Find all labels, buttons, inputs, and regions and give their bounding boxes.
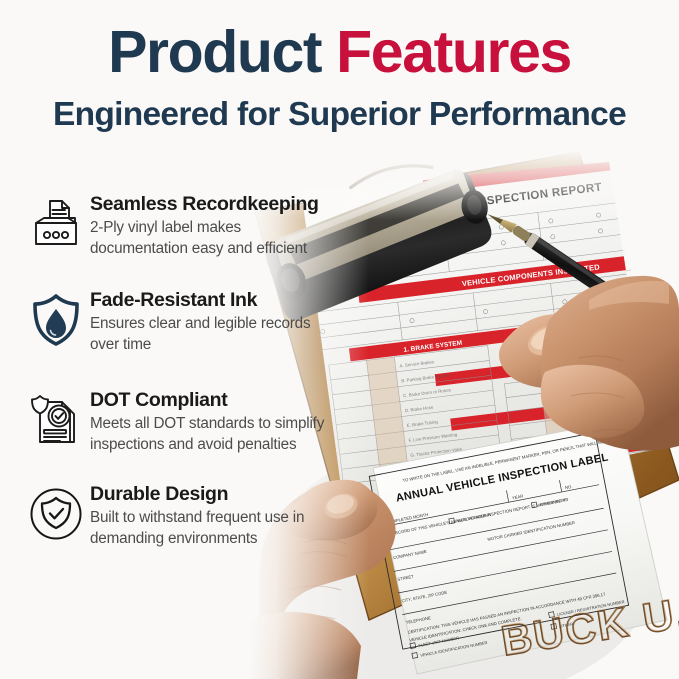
feature-text-block: DOT Compliant Meets all DOT standards to…: [90, 388, 342, 455]
shield-check-circle-icon: [22, 482, 90, 554]
features-list: Seamless Recordkeeping 2-Ply vinyl label…: [22, 192, 342, 554]
feature-item-dot-compliant: DOT Compliant Meets all DOT standards to…: [22, 388, 342, 460]
feature-text-block: Seamless Recordkeeping 2-Ply vinyl label…: [90, 192, 342, 259]
feature-text-block: Durable Design Built to withstand freque…: [90, 482, 342, 549]
documents-folder-icon: [22, 192, 90, 264]
page-title-part-b: Features: [336, 19, 571, 85]
feature-item-fade-resistant-ink: Fade-Resistant Ink Ensures clear and leg…: [22, 288, 342, 360]
product-features-infographic: ANNUAL VEHICLE INSPECTION REPORT VEHICLE…: [0, 0, 679, 679]
feature-text-block: Fade-Resistant Ink Ensures clear and leg…: [90, 288, 342, 355]
feature-description: 2-Ply vinyl label makes documentation ea…: [90, 218, 342, 258]
document-check-shield-icon: [22, 388, 90, 460]
feature-item-durable-design: Durable Design Built to withstand freque…: [22, 482, 342, 554]
shield-ink-drop-icon: [22, 288, 90, 360]
feature-title: Seamless Recordkeeping: [90, 193, 342, 215]
header: Product Features Engineered for Superior…: [0, 22, 679, 134]
page-subtitle: Engineered for Superior Performance: [0, 96, 679, 134]
feature-description: Meets all DOT standards to simplify insp…: [90, 414, 342, 454]
feature-description: Ensures clear and legible records over t…: [90, 314, 342, 354]
feature-item-seamless-recordkeeping: Seamless Recordkeeping 2-Ply vinyl label…: [22, 192, 342, 264]
feature-title: Fade-Resistant Ink: [90, 289, 342, 311]
feature-title: DOT Compliant: [90, 389, 342, 411]
page-title: Product Features: [0, 22, 679, 84]
page-title-part-a: Product: [108, 19, 336, 85]
feature-title: Durable Design: [90, 483, 342, 505]
feature-description: Built to withstand frequent use in deman…: [90, 508, 342, 548]
